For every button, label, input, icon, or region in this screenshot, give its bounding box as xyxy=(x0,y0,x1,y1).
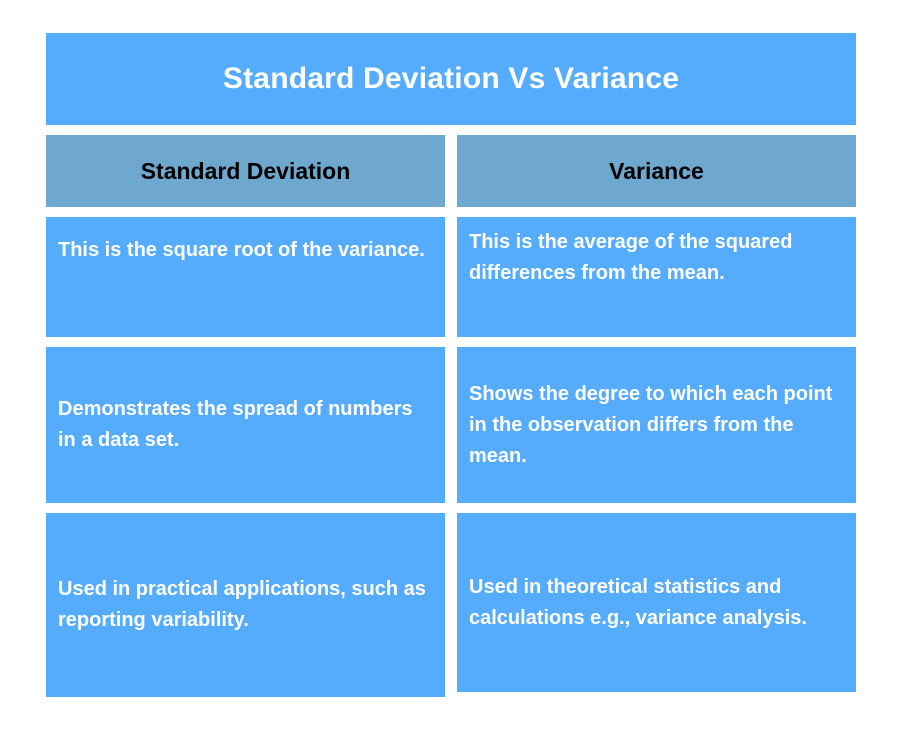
table-title-banner: Standard Deviation Vs Variance xyxy=(46,33,856,125)
table-header-row: Standard Deviation Variance xyxy=(46,135,856,207)
table-cell-standard-deviation: Used in practical applications, such as … xyxy=(46,513,445,697)
column-header-label: Variance xyxy=(609,158,704,185)
column-header-standard-deviation: Standard Deviation xyxy=(46,135,445,207)
table-cell-text: Used in practical applications, such as … xyxy=(58,574,431,636)
column-header-label: Standard Deviation xyxy=(141,158,351,185)
table-cell-variance: Shows the degree to which each point in … xyxy=(457,347,856,503)
comparison-table: Standard Deviation Vs Variance Standard … xyxy=(46,33,856,697)
table-cell-standard-deviation: This is the square root of the variance. xyxy=(46,217,445,337)
table-cell-variance: Used in theoretical statistics and calcu… xyxy=(457,513,856,692)
table-cell-text: This is the average of the squared diffe… xyxy=(469,227,842,289)
column-header-variance: Variance xyxy=(457,135,856,207)
table-row: Used in practical applications, such as … xyxy=(46,513,856,697)
table-cell-variance: This is the average of the squared diffe… xyxy=(457,217,856,337)
table-row: Demonstrates the spread of numbers in a … xyxy=(46,347,856,503)
table-cell-text: This is the square root of the variance. xyxy=(58,235,425,266)
table-row: This is the square root of the variance.… xyxy=(46,217,856,337)
table-cell-text: Demonstrates the spread of numbers in a … xyxy=(58,394,431,456)
table-cell-standard-deviation: Demonstrates the spread of numbers in a … xyxy=(46,347,445,503)
table-cell-text: Used in theoretical statistics and calcu… xyxy=(469,572,842,634)
table-cell-text: Shows the degree to which each point in … xyxy=(469,379,842,472)
page-title: Standard Deviation Vs Variance xyxy=(223,61,679,97)
